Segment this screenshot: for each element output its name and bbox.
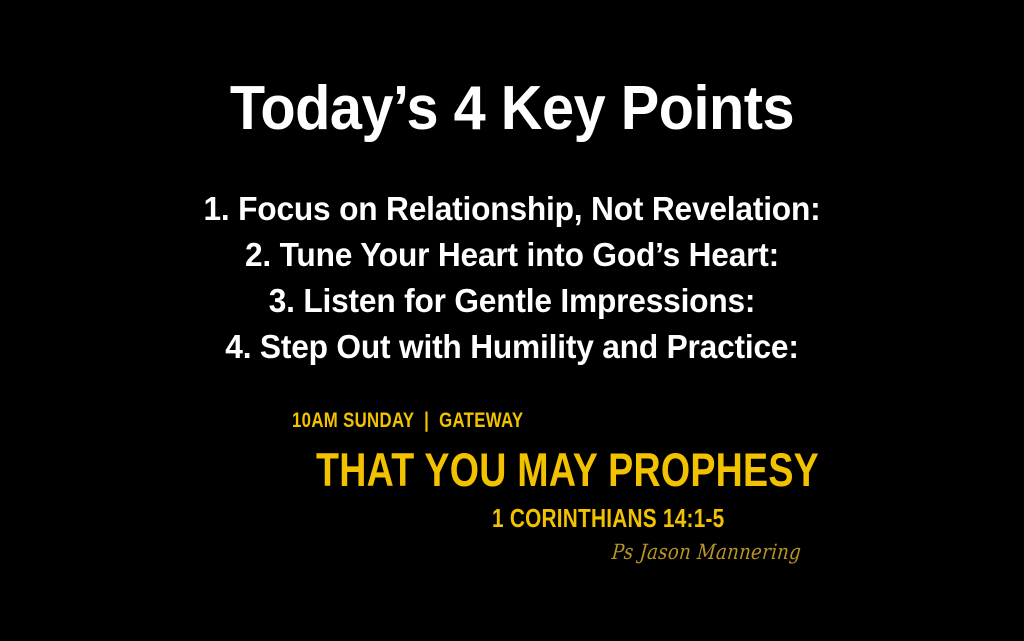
list-item: 2. Tune Your Heart into God’s Heart: [20, 232, 1003, 278]
list-item: 4. Step Out with Humility and Practice: [20, 324, 1003, 370]
list-item: 3. Listen for Gentle Impressions: [20, 278, 1003, 324]
page-title: Today’s 4 Key Points [36, 74, 988, 144]
sermon-title: THAT YOU MAY PROPHESY [316, 445, 882, 495]
sermon-slide: Today’s 4 Key Points 1. Focus on Relatio… [0, 0, 1024, 641]
sermon-footer: 10AM SUNDAY | GATEWAY THAT YOU MAY PROPH… [0, 408, 1024, 565]
list-item: 1. Focus on Relationship, Not Revelation… [20, 186, 1003, 232]
key-points-list: 1. Focus on Relationship, Not Revelation… [0, 186, 1024, 370]
scripture-reference: 1 CORINTHIANS 14:1-5 [492, 503, 918, 533]
speaker-signature: Ps Jason Mannering [611, 539, 968, 565]
service-info: 10AM SUNDAY | GATEWAY [292, 408, 878, 433]
